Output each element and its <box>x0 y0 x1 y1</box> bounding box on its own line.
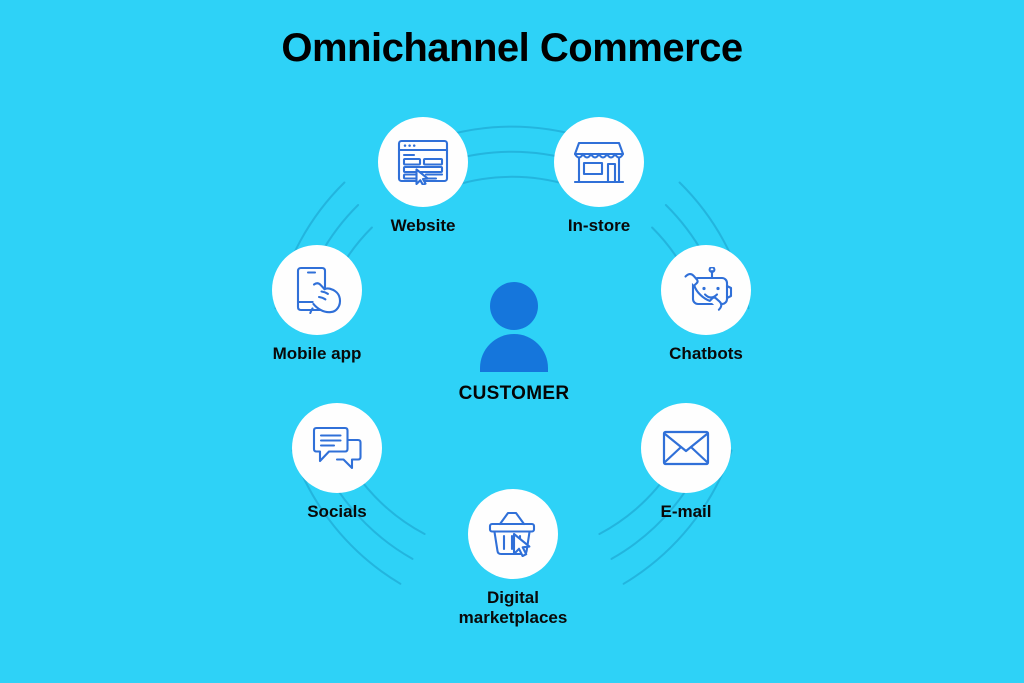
channel-label-website: Website <box>333 216 513 236</box>
channel-label-chatbots: Chatbots <box>616 344 796 364</box>
channel-circle-chatbots[interactable] <box>661 245 751 335</box>
browser-window-cursor-icon <box>397 139 449 185</box>
channel-node-socials[interactable]: Socials <box>247 403 427 522</box>
person-icon <box>434 282 594 374</box>
smartphone-hand-tap-icon <box>292 266 342 314</box>
chat-bubbles-icon <box>312 426 362 470</box>
channel-node-in-store[interactable]: In-store <box>509 117 689 236</box>
channel-node-chatbots[interactable]: Chatbots <box>616 245 796 364</box>
channel-node-mobile-app[interactable]: Mobile app <box>227 245 407 364</box>
storefront-icon <box>574 139 624 185</box>
channel-label-in-store: In-store <box>509 216 689 236</box>
channel-circle-socials[interactable] <box>292 403 382 493</box>
channel-label-socials: Socials <box>247 502 427 522</box>
envelope-icon <box>662 430 710 466</box>
channel-label-digital-marketplaces: Digital marketplaces <box>423 588 603 627</box>
infographic-canvas: Omnichannel Commerce <box>0 0 1024 683</box>
channel-label-mobile-app: Mobile app <box>227 344 407 364</box>
channel-node-email[interactable]: E-mail <box>596 403 776 522</box>
channel-node-digital-marketplaces[interactable]: Digital marketplaces <box>423 489 603 627</box>
channel-node-website[interactable]: Website <box>333 117 513 236</box>
customer-center: CUSTOMER <box>434 282 594 405</box>
channel-circle-mobile-app[interactable] <box>272 245 362 335</box>
page-title: Omnichannel Commerce <box>0 26 1024 70</box>
robot-phone-icon <box>679 267 733 313</box>
channel-circle-website[interactable] <box>378 117 468 207</box>
channel-circle-email[interactable] <box>641 403 731 493</box>
customer-label: CUSTOMER <box>434 383 594 405</box>
channel-circle-digital-marketplaces[interactable] <box>468 489 558 579</box>
shopping-basket-cursor-icon <box>487 511 539 557</box>
channel-circle-in-store[interactable] <box>554 117 644 207</box>
channel-label-email: E-mail <box>596 502 776 522</box>
